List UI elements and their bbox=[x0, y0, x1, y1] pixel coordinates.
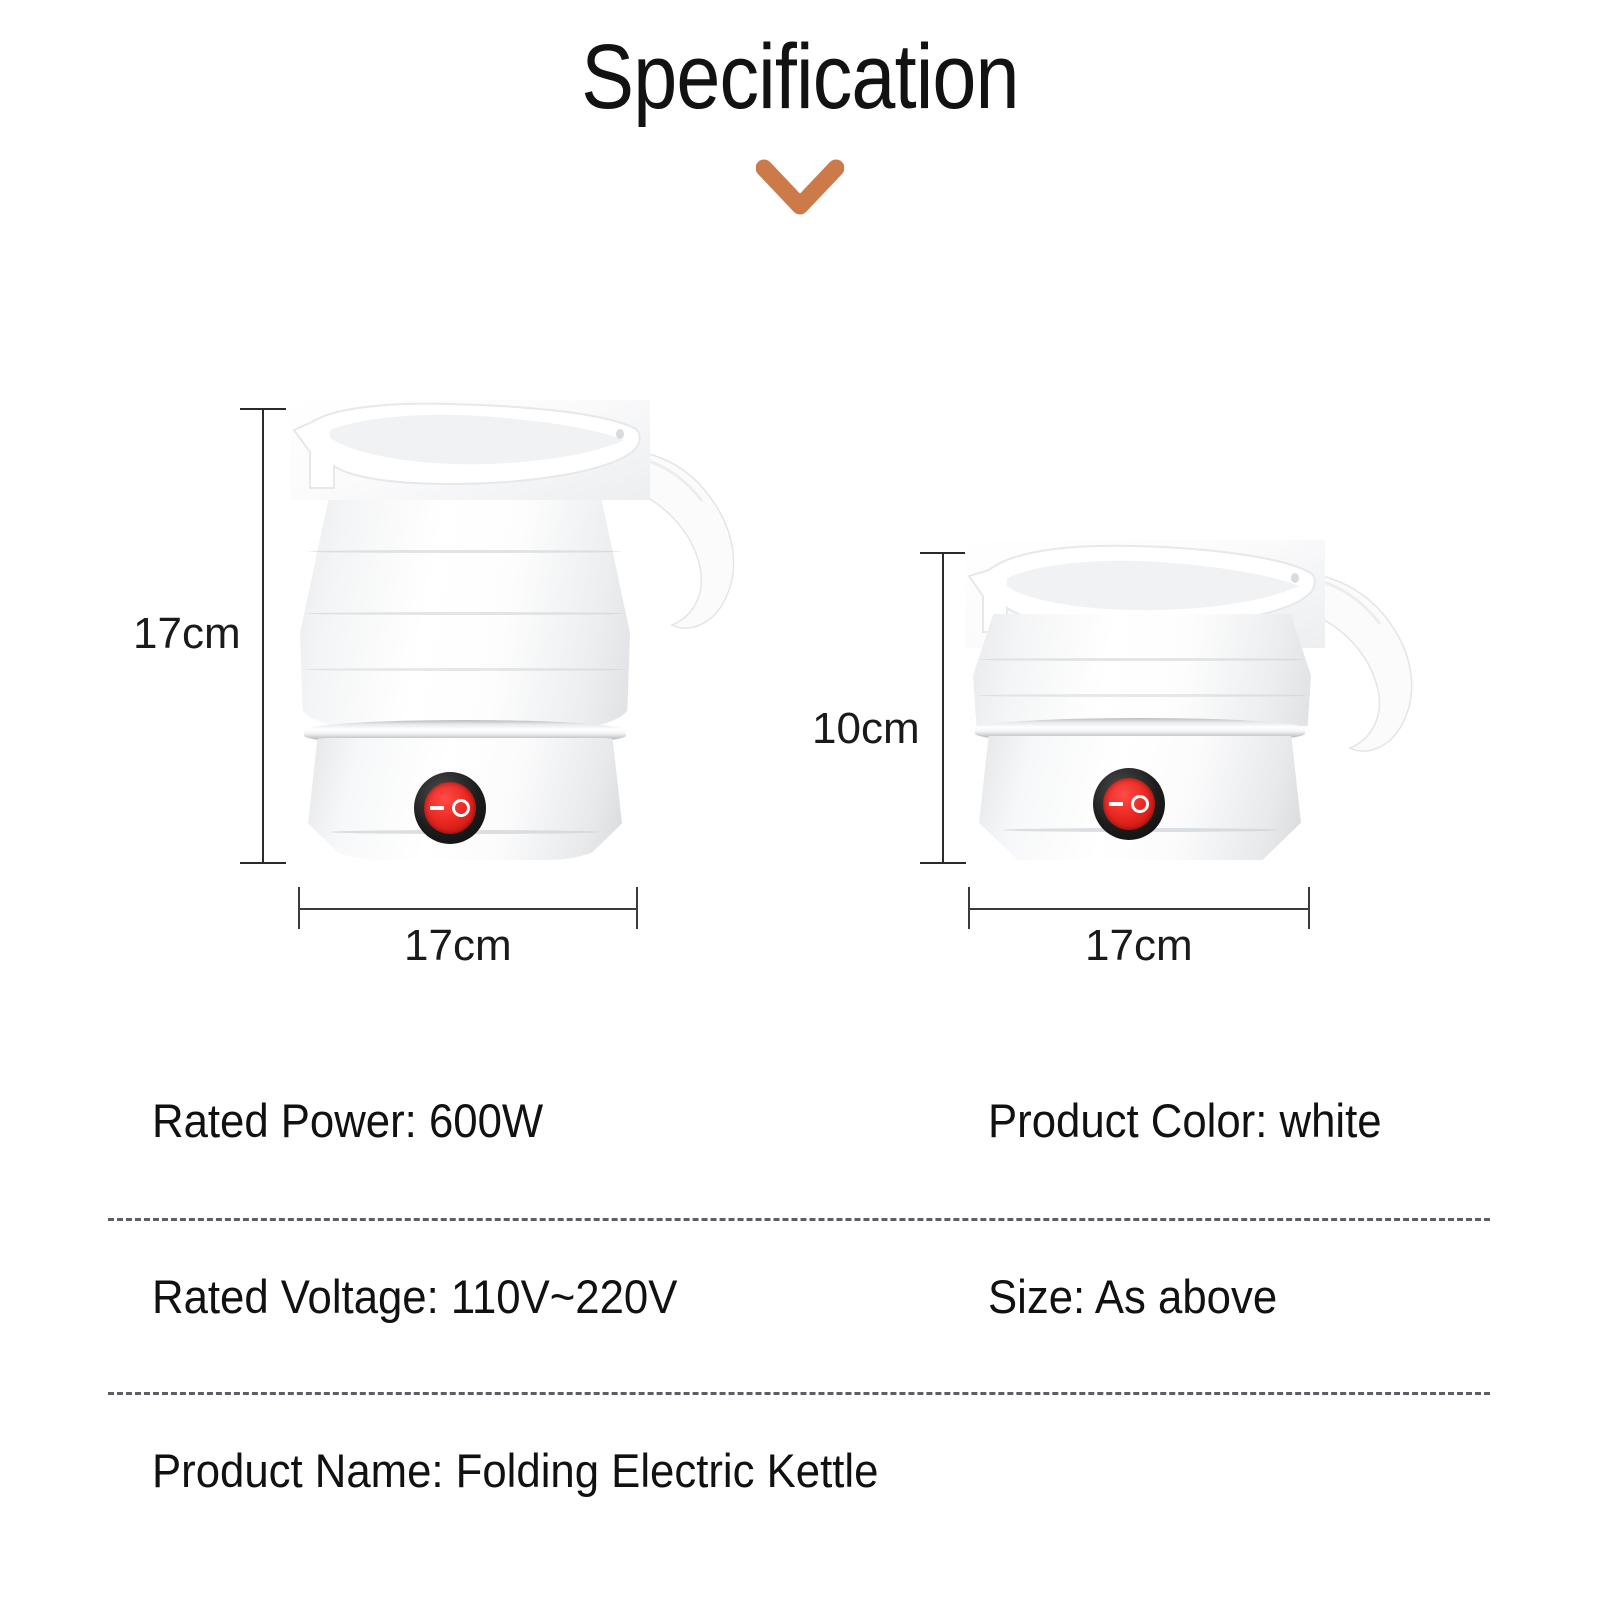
kettle-fold-ring-2 bbox=[306, 612, 624, 615]
power-switch-expanded[interactable] bbox=[414, 772, 486, 844]
kettle-lid-expanded bbox=[290, 400, 650, 500]
width-dim-line-left bbox=[298, 908, 638, 910]
width-dim-label-right: 17cm bbox=[1085, 920, 1193, 972]
height-dim-line-left bbox=[262, 408, 264, 864]
height-dim-label-left: 17cm bbox=[133, 608, 241, 660]
kettle-fold-ring-1 bbox=[308, 550, 622, 553]
switch-minus-icon bbox=[430, 806, 444, 810]
page-title: Specification bbox=[112, 22, 1488, 132]
spec-row-2-right: Size: As above bbox=[988, 1268, 1277, 1326]
kettle-fold-ring-c2 bbox=[977, 694, 1307, 697]
power-switch-face-expanded bbox=[424, 782, 476, 834]
height-dim-tick-bottom-right bbox=[920, 862, 966, 864]
switch-circle-icon bbox=[452, 799, 470, 817]
width-dim-line-right bbox=[968, 908, 1310, 910]
spec-row-2-left: Rated Voltage: 110V~220V bbox=[152, 1268, 677, 1326]
chevron-down-icon bbox=[756, 158, 844, 222]
switch-circle-icon bbox=[1131, 795, 1149, 813]
power-switch-collapsed[interactable] bbox=[1093, 768, 1165, 840]
kettle-fold-ring-3 bbox=[304, 668, 626, 671]
kettle-expanded-graphic bbox=[290, 400, 750, 865]
spec-divider-2 bbox=[108, 1392, 1490, 1395]
spec-divider-1 bbox=[108, 1218, 1490, 1221]
switch-minus-icon bbox=[1109, 802, 1123, 806]
specification-page: Specification 17cm bbox=[0, 0, 1600, 1600]
kettle-collapsed-graphic bbox=[965, 540, 1435, 870]
kettle-body-collapsed bbox=[973, 614, 1311, 726]
height-dim-line-right bbox=[942, 552, 944, 864]
width-dim-label-left: 17cm bbox=[404, 920, 512, 972]
power-switch-face-collapsed bbox=[1103, 778, 1155, 830]
width-dim-tick-right-left bbox=[636, 887, 638, 929]
spec-row-1-left: Rated Power: 600W bbox=[152, 1092, 543, 1150]
spec-row-1-right: Product Color: white bbox=[988, 1092, 1382, 1150]
width-dim-tick-right-right bbox=[1308, 887, 1310, 929]
kettle-fold-ring-c1 bbox=[979, 658, 1305, 661]
height-dim-tick-bottom-left bbox=[240, 862, 286, 864]
height-dim-label-right: 10cm bbox=[812, 703, 920, 755]
kettle-body-expanded bbox=[300, 478, 630, 728]
spec-row-3-left: Product Name: Folding Electric Kettle bbox=[152, 1442, 878, 1500]
